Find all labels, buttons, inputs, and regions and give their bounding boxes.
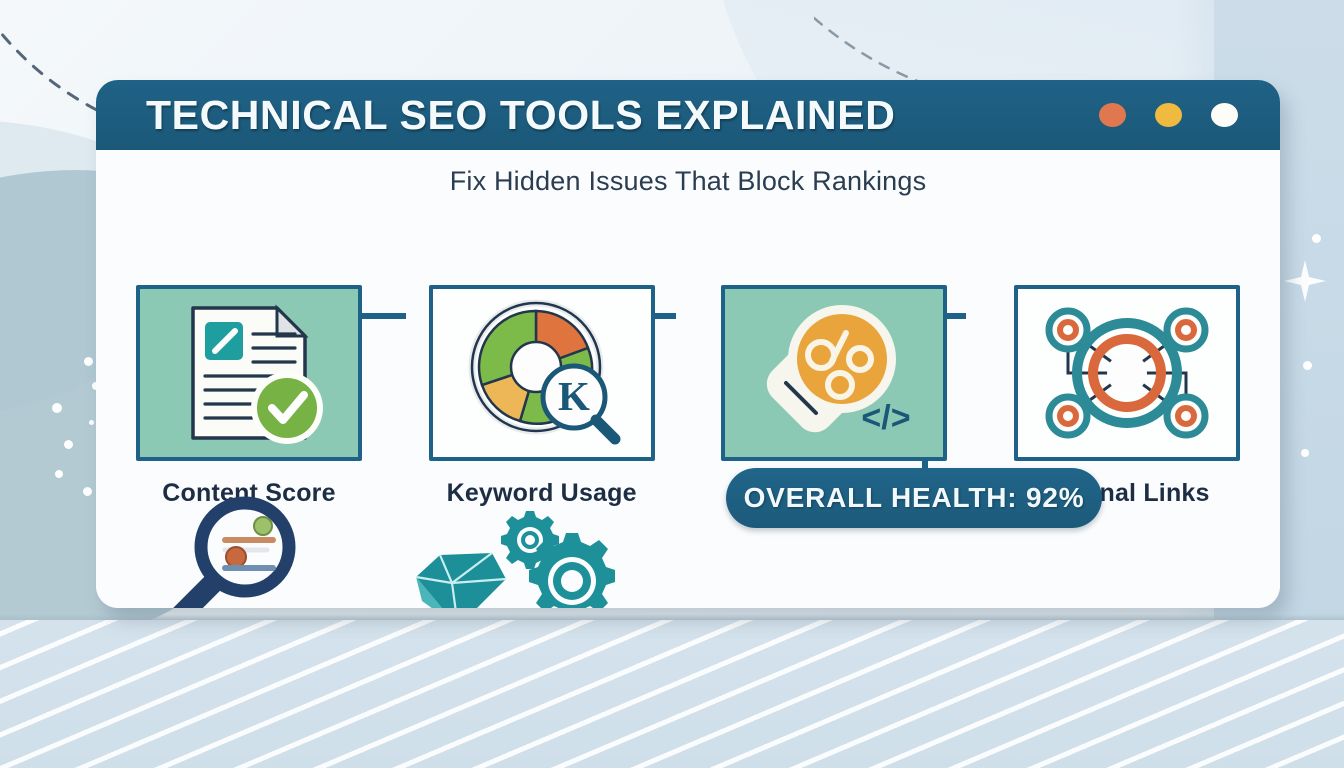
window-controls <box>1099 103 1238 127</box>
tool-card-content-score[interactable]: Content Score <box>136 285 362 508</box>
page-title: TECHNICAL SEO TOOLS EXPLAINED <box>146 92 895 139</box>
donut-chart-magnifier-icon: K <box>458 297 626 449</box>
magnifier-analytics-icon <box>162 495 312 608</box>
window-titlebar: TECHNICAL SEO TOOLS EXPLAINED <box>96 80 1280 150</box>
overall-health-badge[interactable]: OVERALL HEALTH: 92% <box>726 468 1102 528</box>
network-nodes-target-icon <box>1034 298 1220 448</box>
close-dot[interactable] <box>1099 103 1126 127</box>
sparkle-icon <box>1282 258 1328 304</box>
tool-card-keyword-usage-visual: K <box>429 285 655 461</box>
magnifier-code-icon: </> <box>750 297 918 449</box>
speck <box>1312 234 1321 243</box>
gem-icon <box>416 553 506 608</box>
tool-card-internal-links-visual <box>1014 285 1240 461</box>
gears-and-gem-decoration <box>406 505 630 608</box>
window-body: Fix Hidden Issues That Block Rankings <box>96 150 1280 608</box>
speck <box>84 357 93 366</box>
speck <box>1303 361 1312 370</box>
tool-card-keyword-usage[interactable]: K Keyword Usage <box>429 285 655 508</box>
page-subtitle: Fix Hidden Issues That Block Rankings <box>96 150 1280 197</box>
speck <box>89 420 94 425</box>
speck <box>1301 449 1309 457</box>
svg-text:K: K <box>558 373 590 419</box>
gear-large-icon <box>529 533 615 608</box>
minimize-dot[interactable] <box>1155 103 1182 127</box>
document-checkmark-icon <box>165 298 333 448</box>
infographic-stage: TECHNICAL SEO TOOLS EXPLAINED Fix Hidden… <box>0 0 1344 768</box>
overall-health-label: OVERALL HEALTH: 92% <box>744 482 1085 514</box>
speck <box>55 470 63 478</box>
maximize-dot[interactable] <box>1211 103 1238 127</box>
background-diagonal-stripes <box>0 620 1344 768</box>
code-glyph: </> <box>862 399 911 437</box>
tool-card-label: Keyword Usage <box>429 479 655 508</box>
background-stripe-cap <box>0 614 1344 620</box>
tool-card-meta-tags-visual: </> <box>721 285 947 461</box>
speck <box>83 487 92 496</box>
speck <box>52 403 62 413</box>
browser-window: TECHNICAL SEO TOOLS EXPLAINED Fix Hidden… <box>96 80 1280 608</box>
speck <box>64 440 73 449</box>
tool-card-content-score-visual <box>136 285 362 461</box>
